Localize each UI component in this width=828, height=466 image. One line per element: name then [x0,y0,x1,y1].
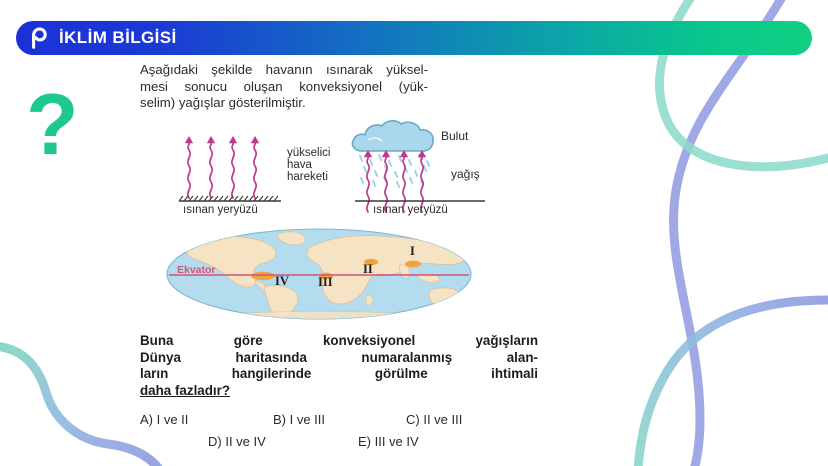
option-a[interactable]: A) I ve II [140,412,273,427]
question-line-2: Dünya haritasında numaralanmış alan- [140,350,538,367]
header-bar: İKLİM BİLGİSİ [16,21,812,55]
slide-root: İKLİM BİLGİSİ ? Aşağıdaki şekilde havanı… [0,0,828,466]
figure-right-ground-label: ısınan yeryüzü [373,204,448,216]
option-c[interactable]: C) II ve III [406,412,539,427]
rain-ticks [360,155,429,187]
intro-paragraph: Aşağıdaki şekilde havanın ısınarak yükse… [140,62,428,112]
options-row-2: D) II ve IV E) III ve IV [140,430,540,452]
map-marker-II: II [363,262,373,276]
world-map: Ekvator I II III IV [163,228,475,320]
pelikan-p-logo-icon [24,25,50,51]
map-marker-blob-south-america [251,272,275,280]
ribbon-purple-top-right [674,0,792,466]
ribbon-gradient-bottom-right [638,300,828,466]
option-d[interactable]: D) II ve IV [208,434,358,449]
cloud-label: Bulut [441,129,469,143]
option-e[interactable]: E) III ve IV [358,434,508,449]
figure-left-ground-label: ısınan yeryüzü [183,204,258,216]
equator-label: Ekvator [177,264,216,276]
map-marker-blob-south-asia [405,261,421,268]
question-line-3: ların hangilerinde görülme ihtimali [140,366,538,383]
intro-line-1: Aşağıdaki şekilde havanın ısınarak yükse… [140,62,428,79]
figure-left-panel: yükselici hava hareketi ısınan yeryüzü [179,136,330,216]
intro-line-3: selim) yağışlar gösterilmiştir. [140,95,428,112]
map-marker-I: I [410,244,415,258]
figure-left-label-line1: yükselici [287,147,330,159]
option-b[interactable]: B) I ve III [273,412,406,427]
question-line-4: daha fazladır? [140,383,538,400]
question-underlined-text: daha fazladır? [140,383,230,398]
figure-left-label-line3: hareketi [287,171,328,183]
intro-line-2: mesi sonucu oluşan konveksiyonel (yük- [140,79,428,96]
rain-label: yağış [451,167,480,181]
question-line-1: Buna göre konveksiyonel yağışların [140,333,538,350]
figure-left-label-line2: hava [287,159,313,171]
intro-block: Aşağıdaki şekilde havanın ısınarak yükse… [140,62,540,112]
heated-surface-left [179,196,281,201]
map-marker-III: III [318,275,333,289]
question-text: Buna göre konveksiyonel yağışların Dünya… [140,333,538,399]
options-row-1: A) I ve II B) I ve III C) II ve III [140,408,540,430]
cloud-icon [352,121,433,151]
figure-right-panel: Bulut [352,121,485,216]
answer-options: A) I ve II B) I ve III C) II ve III D) I… [140,408,540,452]
decorative-question-mark: ? [26,82,79,168]
header-title: İKLİM BİLGİSİ [59,28,177,48]
convection-figure: yükselici hava hareketi ısınan yeryüzü B… [165,118,540,218]
rising-air-arrows-left [185,136,259,198]
map-marker-IV: IV [275,274,289,288]
